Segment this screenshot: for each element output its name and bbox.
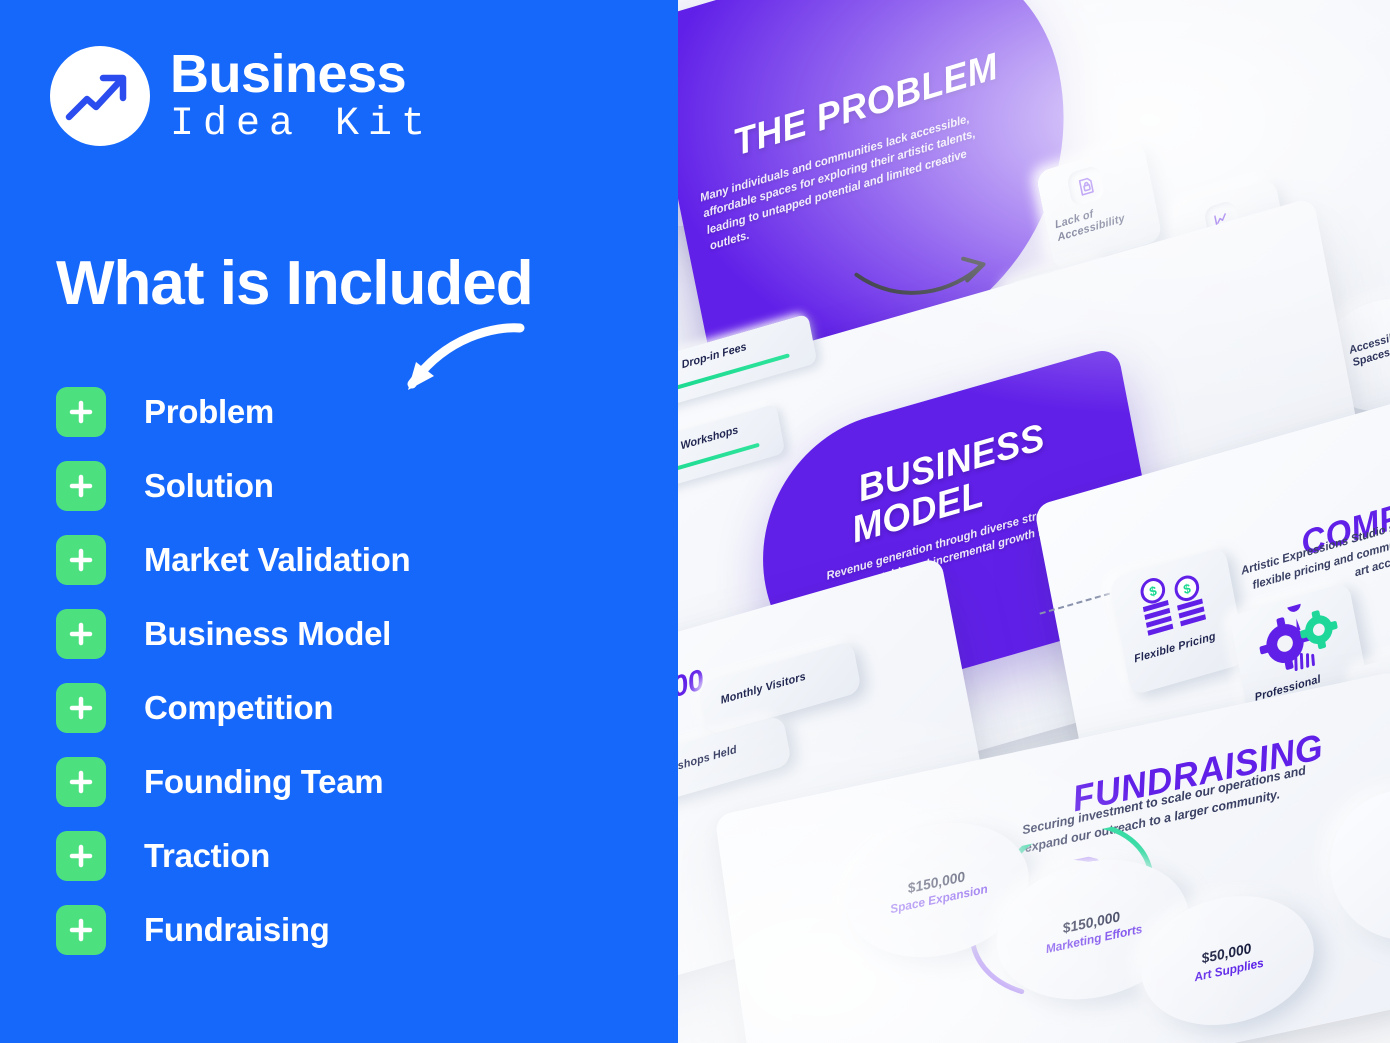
plus-icon — [56, 609, 106, 659]
list-item-label: Fundraising — [144, 911, 330, 949]
list-item-business-model[interactable]: Business Model — [56, 608, 616, 660]
list-item-label: Founding Team — [144, 763, 383, 801]
list-item-fundraising[interactable]: Fundraising — [56, 904, 616, 956]
lock-document-icon-box — [1066, 164, 1105, 207]
brand-name-line2: Idea Kit — [170, 105, 434, 145]
list-item-founding-team[interactable]: Founding Team — [56, 756, 616, 808]
list-item-label: Problem — [144, 393, 274, 431]
growth-chart-circle-icon — [50, 46, 150, 146]
lock-document-icon — [1075, 174, 1097, 198]
plus-icon — [56, 831, 106, 881]
left-blue-panel: Business Idea Kit What is Included Probl… — [0, 0, 678, 1043]
list-item-competition[interactable]: Competition — [56, 682, 616, 734]
problem-tile-label: Lack of Accessibility — [1054, 192, 1152, 245]
list-item-solution[interactable]: Solution — [56, 460, 616, 512]
plus-icon — [56, 757, 106, 807]
list-item-label: Business Model — [144, 615, 391, 653]
list-item-label: Traction — [144, 837, 270, 875]
problem-side-tile-label: Accessible Spaces — [1348, 324, 1390, 370]
list-item-traction[interactable]: Traction — [56, 830, 616, 882]
plus-icon — [56, 387, 106, 437]
brand-name-line1: Business — [170, 47, 434, 101]
list-item-problem[interactable]: Problem — [56, 386, 616, 438]
plus-icon — [56, 683, 106, 733]
brand-logo: Business Idea Kit — [50, 46, 434, 146]
plus-icon — [56, 535, 106, 585]
plus-icon — [56, 905, 106, 955]
list-item-market-validation[interactable]: Market Validation — [56, 534, 616, 586]
bar-label: Drop-in Fees — [681, 341, 748, 371]
page-title: What is Included — [56, 248, 533, 319]
list-item-label: Solution — [144, 467, 274, 505]
growth-arrow-icon — [63, 59, 137, 133]
brand-wordmark: Business Idea Kit — [170, 47, 434, 145]
plus-icon — [56, 461, 106, 511]
list-item-label: Competition — [144, 689, 333, 727]
included-items-list: Problem Solution Market Validation Busin… — [56, 386, 616, 978]
list-item-label: Market Validation — [144, 541, 410, 579]
